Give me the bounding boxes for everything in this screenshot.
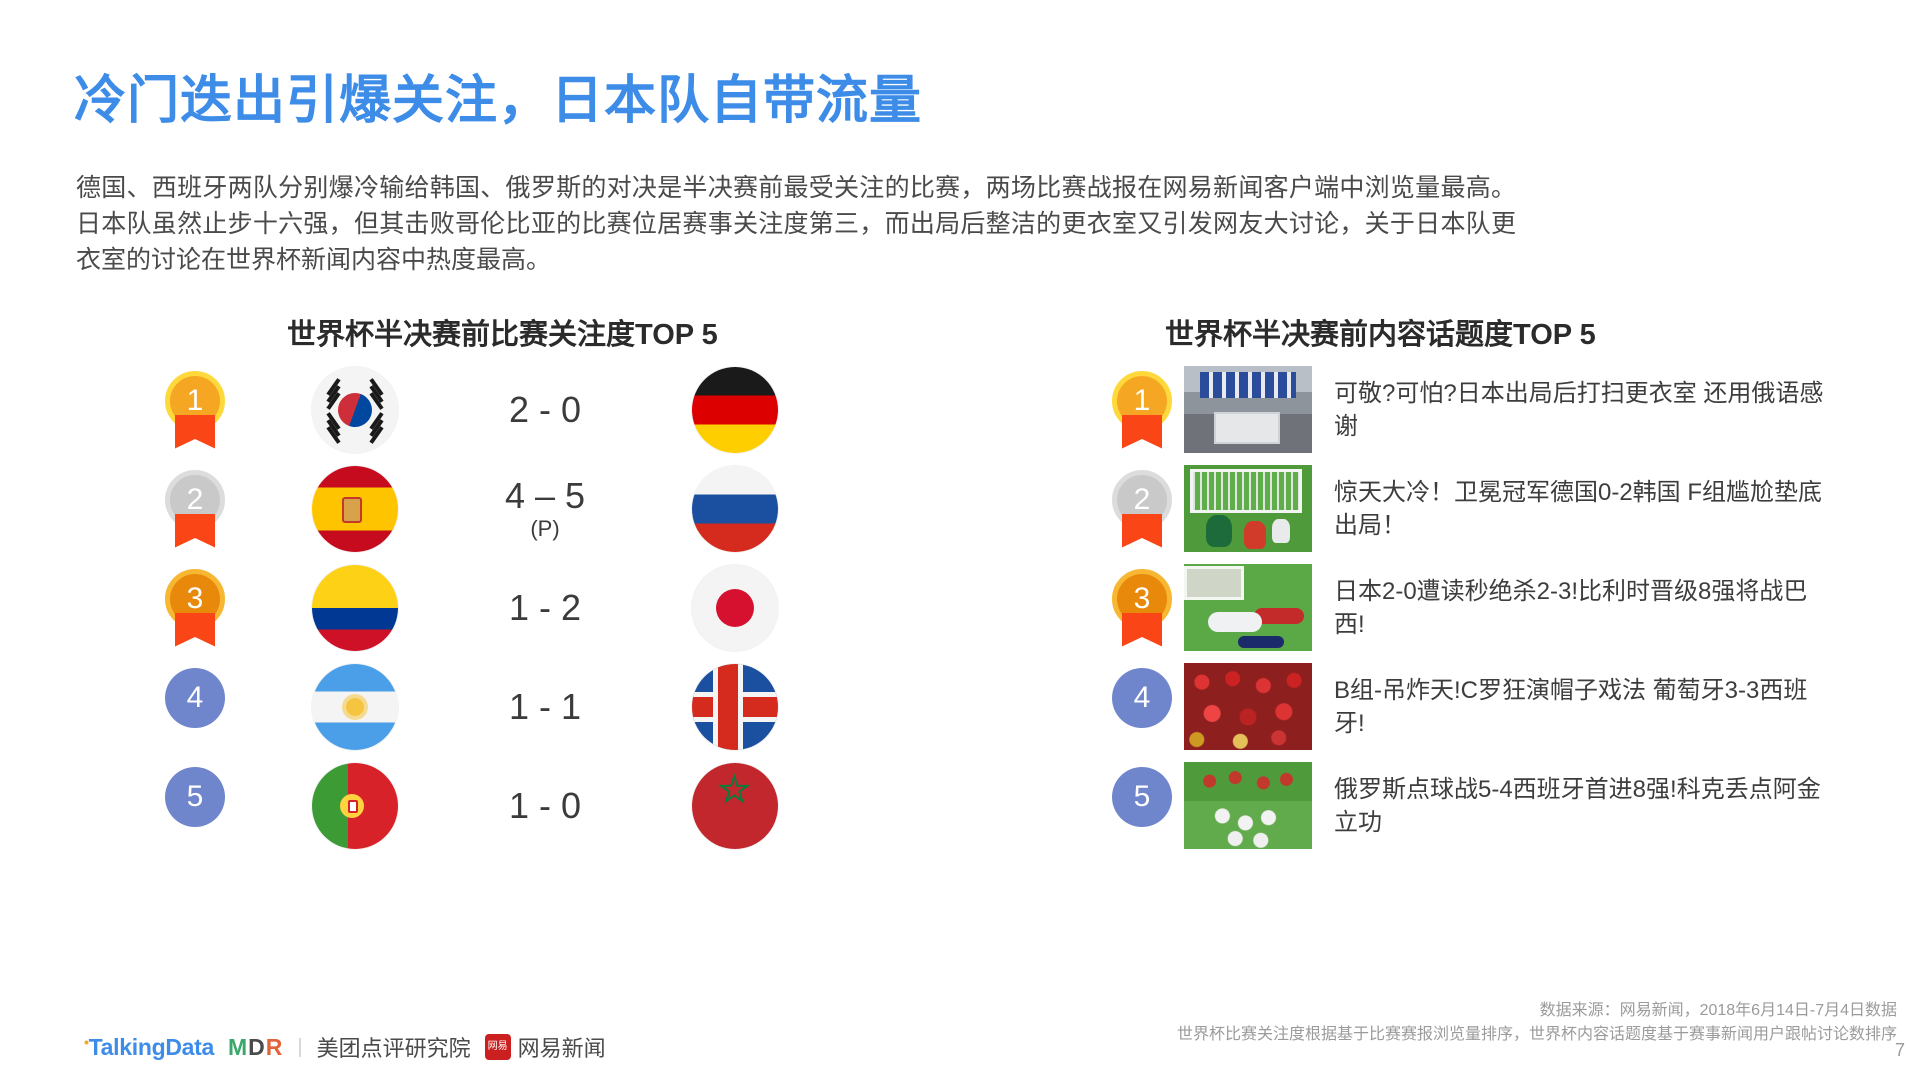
news-thumbnail[interactable] [1184, 465, 1312, 552]
rank-badge-cell: 1 [130, 371, 260, 449]
score-value: 1 - 0 [509, 785, 581, 826]
away-flag-cell [640, 664, 830, 750]
source-line-2: 世界杯比赛关注度根据基于比赛赛报浏览量排序，世界杯内容话题度基于赛事新闻用户跟帖… [1177, 1023, 1897, 1047]
medal-silver-icon: 2 [165, 470, 225, 548]
score-value: 1 - 2 [509, 587, 581, 628]
logo-bar: •TalkingData MDR | 美团点评研究院 网易 网易新闻 [84, 1031, 606, 1063]
rank-number: 5 [1112, 767, 1172, 827]
news-headline[interactable]: 俄罗斯点球战5-4西班牙首进8强!科克丢点阿金立功 [1334, 773, 1834, 839]
score-value: 4 – 5 [505, 475, 585, 516]
flag-colombia-icon [312, 565, 398, 651]
news-list: 1 可敬?可怕?日本出局后打扫更衣室 还用俄语感谢 2 惊天大冷！卫冕冠军德国0… [1100, 360, 1880, 855]
page-title: 冷门迭出引爆关注，日本队自带流量 [74, 58, 922, 133]
news-headline[interactable]: 可敬?可怕?日本出局后打扫更衣室 还用俄语感谢 [1334, 377, 1834, 443]
flag-morocco-icon [692, 763, 778, 849]
rank-badge-cell: 5 [130, 767, 260, 845]
flag-japan-icon [692, 565, 778, 651]
ribbon-icon [175, 613, 215, 647]
netease-news-logo: 网易 网易新闻 [485, 1031, 606, 1063]
home-flag-cell [260, 763, 450, 849]
match-score: 4 – 5 (P) [450, 476, 640, 542]
score-value: 2 - 0 [509, 389, 581, 430]
right-panel-title: 世界杯半决赛前内容话题度TOP 5 [1165, 311, 1596, 353]
ribbon-icon [1122, 613, 1162, 647]
ribbon-icon [175, 415, 215, 449]
news-headline[interactable]: B组-吊炸天!C罗狂演帽子戏法 葡萄牙3-3西班牙! [1334, 674, 1834, 740]
news-thumbnail[interactable] [1184, 762, 1312, 849]
page-number: 7 [1895, 1040, 1905, 1061]
intro-paragraph: 德国、西班牙两队分别爆冷输给韩国、俄罗斯的对决是半决赛前最受关注的比赛，两场比赛… [76, 170, 1516, 278]
meituan-research-logo: 美团点评研究院 [317, 1031, 471, 1063]
medal-bronze-icon: 3 [1112, 569, 1172, 647]
rank-badge-cell: 2 [1100, 470, 1184, 548]
slide-canvas: 冷门迭出引爆关注，日本队自带流量 德国、西班牙两队分别爆冷输给韩国、俄罗斯的对决… [0, 0, 1921, 1080]
ribbon-icon [1122, 415, 1162, 449]
ribbon-icon [175, 514, 215, 548]
rank-number: 4 [165, 668, 225, 728]
news-item[interactable]: 3 日本2-0遭读秒绝杀2-3!比利时晋级8强将战巴西! [1100, 558, 1880, 657]
rank-number: 5 [165, 767, 225, 827]
match-row[interactable]: 1 2 - 0 [130, 360, 870, 459]
rank-badge-4: 4 [1112, 668, 1172, 746]
match-row[interactable]: 2 4 – 5 (P) [130, 459, 870, 558]
medal-silver-icon: 2 [1112, 470, 1172, 548]
news-thumbnail[interactable] [1184, 564, 1312, 651]
mdr-r: R [266, 1034, 284, 1060]
rank-badge-cell: 3 [1100, 569, 1184, 647]
home-flag-cell [260, 466, 450, 552]
news-item[interactable]: 1 可敬?可怕?日本出局后打扫更衣室 还用俄语感谢 [1100, 360, 1880, 459]
talkingdata-logo-text: TalkingData [89, 1034, 214, 1060]
flag-iceland-icon [692, 664, 778, 750]
match-score: 2 - 0 [450, 390, 640, 430]
mdr-logo: MDR [228, 1034, 283, 1061]
away-flag-cell [640, 466, 830, 552]
rank-badge-cell: 4 [130, 668, 260, 746]
flag-portugal-icon [312, 763, 398, 849]
medal-bronze-icon: 3 [165, 569, 225, 647]
rank-badge-cell: 3 [130, 569, 260, 647]
match-score: 1 - 0 [450, 786, 640, 826]
match-score: 1 - 2 [450, 588, 640, 628]
match-row[interactable]: 5 1 - 0 [130, 756, 870, 855]
rank-badge-cell: 4 [1100, 668, 1184, 746]
source-note: 数据来源：网易新闻，2018年6月14日-7月4日数据 世界杯比赛关注度根据基于… [1177, 999, 1897, 1047]
flag-spain-icon [312, 466, 398, 552]
logo-divider: | [297, 1036, 302, 1059]
rank-badge-cell: 2 [130, 470, 260, 548]
source-line-1: 数据来源：网易新闻，2018年6月14日-7月4日数据 [1177, 999, 1897, 1023]
news-item[interactable]: 2 惊天大冷！卫冕冠军德国0-2韩国 F组尴尬垫底出局！ [1100, 459, 1880, 558]
away-flag-cell [640, 763, 830, 849]
match-row[interactable]: 3 1 - 2 [130, 558, 870, 657]
home-flag-cell [260, 367, 450, 453]
news-headline[interactable]: 日本2-0遭读秒绝杀2-3!比利时晋级8强将战巴西! [1334, 575, 1834, 641]
rank-badge-cell: 1 [1100, 371, 1184, 449]
flag-russia-icon [692, 466, 778, 552]
news-headline[interactable]: 惊天大冷！卫冕冠军德国0-2韩国 F组尴尬垫底出局！ [1334, 476, 1834, 542]
score-note: (P) [450, 516, 640, 542]
netease-logo-text: 网易新闻 [518, 1031, 606, 1063]
ribbon-icon [1122, 514, 1162, 548]
home-flag-cell [260, 565, 450, 651]
rank-badge-5: 5 [1112, 767, 1172, 845]
news-item[interactable]: 5 俄罗斯点球战5-4西班牙首进8强!科克丢点阿金立功 [1100, 756, 1880, 855]
match-row[interactable]: 4 1 - 1 [130, 657, 870, 756]
score-value: 1 - 1 [509, 686, 581, 727]
news-item[interactable]: 4 B组-吊炸天!C罗狂演帽子戏法 葡萄牙3-3西班牙! [1100, 657, 1880, 756]
rank-badge-cell: 5 [1100, 767, 1184, 845]
match-list: 1 2 - 0 2 [130, 360, 870, 855]
flag-germany-icon [692, 367, 778, 453]
left-panel-title: 世界杯半决赛前比赛关注度TOP 5 [287, 311, 718, 353]
medal-gold-icon: 1 [1112, 371, 1172, 449]
rank-badge-5: 5 [165, 767, 225, 845]
news-thumbnail[interactable] [1184, 366, 1312, 453]
rank-number: 4 [1112, 668, 1172, 728]
medal-gold-icon: 1 [165, 371, 225, 449]
flag-south-korea-icon [312, 367, 398, 453]
match-score: 1 - 1 [450, 687, 640, 727]
netease-mark-icon: 网易 [485, 1034, 511, 1060]
away-flag-cell [640, 565, 830, 651]
away-flag-cell [640, 367, 830, 453]
talkingdata-logo: •TalkingData [84, 1034, 214, 1061]
flag-argentina-icon [312, 664, 398, 750]
news-thumbnail[interactable] [1184, 663, 1312, 750]
mdr-d: D [248, 1034, 266, 1060]
mdr-m: M [228, 1034, 248, 1060]
rank-badge-4: 4 [165, 668, 225, 746]
home-flag-cell [260, 664, 450, 750]
